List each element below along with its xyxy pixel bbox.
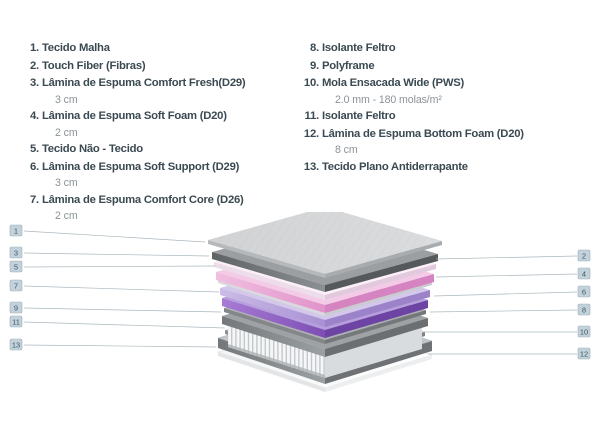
legend-label: Lâmina de Espuma Comfort Fresh(D29) [39,75,245,92]
callout-badge-left-1: 1 [10,225,22,236]
legend-item-13: 13. Tecido Plano Antiderrapante [302,159,590,176]
legend-number: 12. [302,126,319,143]
legend-item-12: 12. Lâmina de Espuma Bottom Foam (D20) [302,126,590,143]
legend-column-left: 1. Tecido Malha 2. Touch Fiber (Fibras) … [0,40,290,225]
callout-badge-left-7: 7 [10,280,22,291]
legend-number: 6. [27,159,39,176]
legend-sub-10: 2.0 mm - 180 molas/m² [302,93,590,109]
svg-text:6: 6 [582,288,586,297]
legend-label: Isolante Feltro [319,108,395,125]
legend-item-2: 2. Touch Fiber (Fibras) [27,58,290,75]
legend-label: Polyframe [319,58,374,75]
legend-column-right: 8. Isolante Feltro 9. Polyframe 10. Mola… [290,40,590,176]
legend-number: 10. [302,75,319,92]
callout-badge-right-8: 8 [578,304,590,315]
legend-label: Tecido Plano Antiderrapante [319,159,468,176]
legend-item-5: 5. Tecido Não - Tecido [27,141,290,158]
legend-label: Lâmina de Espuma Bottom Foam (D20) [319,126,524,143]
svg-text:2: 2 [582,252,586,261]
legend-item-7: 7. Lâmina de Espuma Comfort Core (D26) [27,192,290,209]
callout-badge-right-2: 2 [578,250,590,261]
legend-label: Touch Fiber (Fibras) [39,58,145,75]
legend-item-6: 6. Lâmina de Espuma Soft Support (D29) [27,159,290,176]
svg-text:10: 10 [580,328,588,337]
legend-label: Lâmina de Espuma Soft Foam (D20) [39,108,227,125]
legend-number: 8. [302,40,319,57]
callout-badge-right-4: 4 [578,268,590,279]
legend-number: 13. [302,159,319,176]
callout-badge-right-6: 6 [578,286,590,297]
legend-item-9: 9. Polyframe [302,58,590,75]
callout-badge-left-13: 13 [10,339,22,350]
legend-number: 11. [302,108,319,125]
svg-text:13: 13 [12,341,20,350]
legend-label: Lâmina de Espuma Comfort Core (D26) [39,192,244,209]
svg-text:1: 1 [14,227,18,236]
legend-item-4: 4. Lâmina de Espuma Soft Foam (D20) [27,108,290,125]
legend-item-11: 11. Isolante Feltro [302,108,590,125]
callout-badge-left-9: 9 [10,302,22,313]
legend-number: 1. [27,40,39,57]
legend-item-8: 8. Isolante Feltro [302,40,590,57]
legend-item-1: 1. Tecido Malha [27,40,290,57]
legend-number: 2. [27,58,39,75]
legend-label: Tecido Não - Tecido [39,141,143,158]
legend-label: Mola Ensacada Wide (PWS) [319,75,464,92]
mattress-cross-section-diagram: 1 3 5 7 9 11 13 2 4 6 8 10 12 [0,212,600,412]
callout-badge-right-12: 12 [578,348,590,359]
svg-text:5: 5 [14,263,18,272]
legend-number: 9. [302,58,319,75]
legend-item-10: 10. Mola Ensacada Wide (PWS) [302,75,590,92]
legend-sub-4: 2 cm [27,126,290,142]
callouts-right [424,256,577,354]
svg-text:4: 4 [582,270,586,279]
svg-text:12: 12 [580,350,588,359]
legend-sub-6: 3 cm [27,176,290,192]
layer-legend: 1. Tecido Malha 2. Touch Fiber (Fibras) … [0,40,600,225]
legend-number: 3. [27,75,39,92]
svg-text:8: 8 [582,306,586,315]
legend-sub-3: 3 cm [27,93,290,109]
legend-label: Isolante Feltro [319,40,395,57]
svg-text:7: 7 [14,282,18,291]
legend-number: 5. [27,141,39,158]
legend-sub-12: 8 cm [302,143,590,159]
legend-number: 7. [27,192,39,209]
callout-badge-left-3: 3 [10,247,22,258]
svg-text:9: 9 [14,304,18,313]
callout-badge-right-10: 10 [578,326,590,337]
legend-item-3: 3. Lâmina de Espuma Comfort Fresh(D29) [27,75,290,92]
callout-badge-left-11: 11 [10,316,22,327]
svg-text:11: 11 [12,318,20,327]
mattress-layers-illustration: 1 3 5 7 9 11 13 2 4 6 8 10 12 [0,212,600,412]
legend-number: 4. [27,108,39,125]
legend-label: Lâmina de Espuma Soft Support (D29) [39,159,239,176]
legend-label: Tecido Malha [39,40,110,57]
svg-text:3: 3 [14,249,18,258]
callouts-left [24,231,225,347]
callout-badge-left-5: 5 [10,261,22,272]
